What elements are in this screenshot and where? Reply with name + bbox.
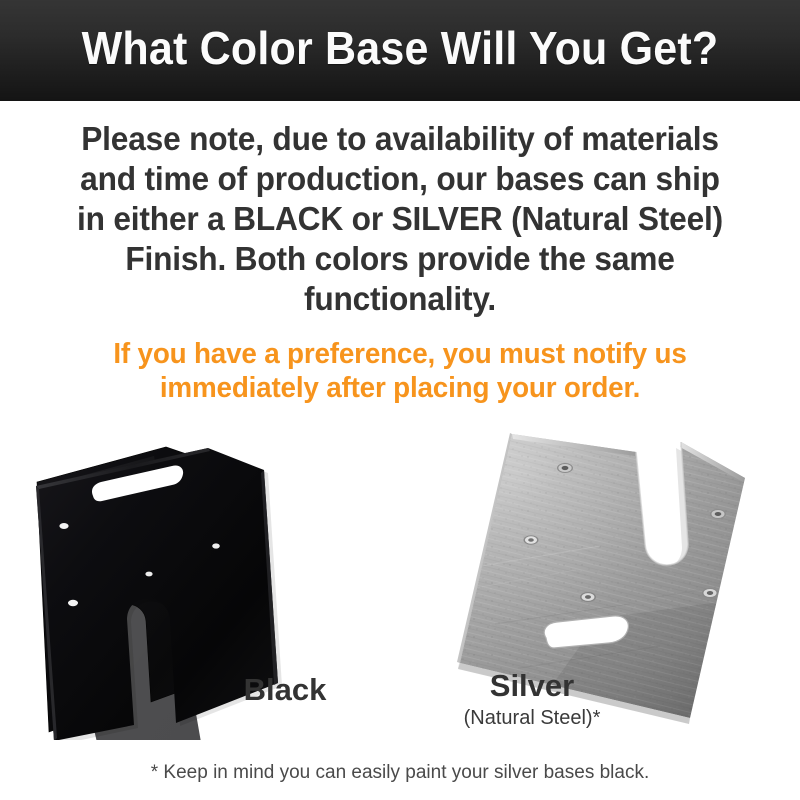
mounting-hole xyxy=(212,543,220,548)
mounting-hole xyxy=(580,592,596,602)
header-banner: What Color Base Will You Get? xyxy=(0,0,800,101)
mounting-hole xyxy=(145,572,152,577)
mounting-hole xyxy=(59,523,68,529)
preference-notice: If you have a preference, you must notif… xyxy=(60,337,740,405)
promo-graphic: What Color Base Will You Get? Please not… xyxy=(0,0,800,800)
mounting-hole xyxy=(557,463,573,473)
caption-silver-subtext: (Natural Steel)* xyxy=(412,706,652,730)
availability-note: Please note, due to availability of mate… xyxy=(72,119,729,319)
caption-black: Black xyxy=(185,672,385,708)
caption-silver: Silver xyxy=(412,668,652,704)
mounting-hole xyxy=(524,535,539,545)
mounting-hole xyxy=(702,588,718,598)
mounting-hole xyxy=(710,509,726,519)
page-title: What Color Base Will You Get? xyxy=(26,19,774,77)
mounting-hole xyxy=(68,600,78,606)
footnote: * Keep in mind you can easily paint your… xyxy=(0,761,800,785)
